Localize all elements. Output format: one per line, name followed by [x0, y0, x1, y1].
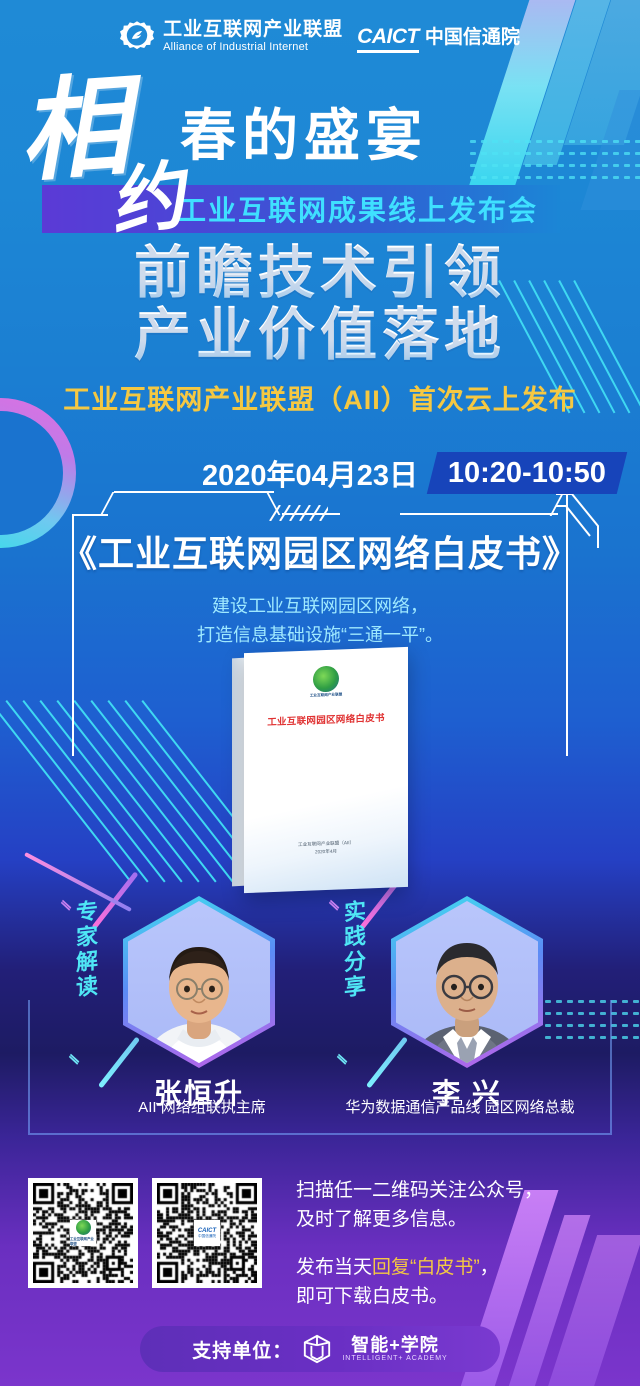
- qr-instructions: 扫描任一二维码关注公众号， 及时了解更多信息。 发布当天回复“白皮书”， 即可下…: [296, 1176, 626, 1312]
- qr-code-caict[interactable]: CAICT 中国信通院: [152, 1178, 262, 1288]
- speaker-1-tag: 专家解读: [74, 899, 96, 1001]
- book-logo-icon: [313, 666, 339, 693]
- event-banner-text: 工业互联网成果线上发布会: [178, 189, 538, 229]
- footer-support-label: 支持单位：: [192, 1336, 292, 1363]
- schedule-time-badge: 10:20-10:50: [427, 452, 627, 494]
- whitepaper-desc: 建设工业互联网园区网络， 打造信息基础设施“三通一平”。: [0, 592, 640, 650]
- qr-download-block: 发布当天回复“白皮书”， 即可下载白皮书。: [296, 1253, 626, 1312]
- academy-name-cn: 智能+学院: [351, 1336, 439, 1356]
- aii-logo-text: 工业互联网产业联盟 Alliance of Industrial Interne…: [163, 20, 343, 54]
- academy-logo: 智能+学院 INTELLIGENT+ ACADEMY: [342, 1336, 447, 1363]
- qr-line-3: 发布当天回复“白皮书”，: [296, 1253, 626, 1282]
- cube-logo-icon: [302, 1334, 332, 1364]
- main-title-line2: 产业价值落地: [0, 305, 640, 367]
- gear-logo-icon: [120, 20, 154, 54]
- speaker-2-tag: 实践分享: [342, 899, 364, 1001]
- main-title: 前瞻技术引领 产业价值落地: [0, 243, 640, 366]
- book-logo-cn: 工业互联网产业联盟: [310, 692, 342, 698]
- speaker-2-avatar: [391, 896, 543, 1068]
- caict-logo: CAICT 中国信通院: [357, 22, 520, 53]
- header-logos: 工业互联网产业联盟 Alliance of Industrial Interne…: [0, 20, 640, 54]
- schedule-date: 2020年04月23日: [202, 452, 432, 494]
- qr-line-3-c: ，: [480, 1257, 499, 1278]
- book-cover-title: 工业互联网园区网络白皮书: [267, 710, 385, 729]
- speaker-card-2: 李 兴: [382, 896, 552, 1112]
- main-title-line1: 前瞻技术引领: [0, 243, 640, 305]
- book-cover-logo: 工业互联网产业联盟: [306, 665, 346, 701]
- subtitle-gold: 工业互联网产业联盟（AII）首次云上发布: [0, 378, 640, 417]
- qr-aii-center-logo: 工业互联网产业联盟: [70, 1220, 96, 1246]
- decor-frame-hatch: [268, 505, 328, 521]
- qr-codes: 工业互联网产业联盟 CAICT 中国信通院: [28, 1178, 262, 1288]
- qr-caict-center-logo: CAICT 中国信通院: [194, 1220, 220, 1246]
- schedule-row: 2020年04月23日 10:20-10:50: [202, 452, 622, 494]
- qr-aii-logo-text: 工业互联网产业联盟: [70, 1236, 96, 1246]
- book-cover: 工业互联网产业联盟 工业互联网园区网络白皮书 工业互联网产业联盟（AII） 20…: [244, 647, 408, 893]
- whitepaper-title: 《工业互联网园区网络白皮书》: [0, 525, 640, 577]
- qr-line-3-highlight: 回复“白皮书”: [372, 1257, 480, 1278]
- caict-cn: 中国信通院: [425, 22, 520, 49]
- aii-logo-cn: 工业互联网产业联盟: [163, 20, 343, 41]
- qr-line-1: 扫描任一二维码关注公众号，: [296, 1176, 626, 1205]
- qr-aii-logo-icon: [76, 1220, 91, 1235]
- whitepaper-desc-line2: 打造信息基础设施“三通一平”。: [0, 621, 640, 650]
- whitepaper-desc-line1: 建设工业互联网园区网络，: [0, 592, 640, 621]
- schedule-time: 10:20-10:50: [448, 457, 606, 490]
- caict-abbr: CAICT: [357, 25, 419, 53]
- qr-code-aii[interactable]: 工业互联网产业联盟: [28, 1178, 138, 1288]
- book-cover-footer: 工业互联网产业联盟（AII） 2020年4月: [244, 837, 408, 859]
- qr-caict-cn: 中国信通院: [198, 1234, 216, 1239]
- footer-support-bar: 支持单位： 智能+学院 INTELLIGENT+ ACADEMY: [140, 1326, 500, 1372]
- brush-char-yue: 约: [105, 158, 189, 242]
- qr-line-3-a: 发布当天: [296, 1257, 372, 1278]
- qr-line-2: 及时了解更多信息。: [296, 1205, 626, 1234]
- academy-name-en: INTELLIGENT+ ACADEMY: [342, 1355, 447, 1362]
- speaker-1-avatar: [123, 896, 275, 1068]
- aii-logo-en: Alliance of Industrial Internet: [163, 41, 343, 54]
- whitepaper-book-mockup: 工业互联网产业联盟 工业互联网园区网络白皮书 工业互联网产业联盟（AII） 20…: [232, 650, 408, 890]
- speaker-2-role: 华为数据通信产品线 园区网络总裁: [300, 1096, 620, 1117]
- poster-root: 工业互联网产业联盟 Alliance of Industrial Interne…: [0, 0, 640, 1386]
- aii-logo: 工业互联网产业联盟 Alliance of Industrial Interne…: [120, 20, 343, 54]
- qr-line-4: 即可下载白皮书。: [296, 1282, 626, 1311]
- speaker-card-1: 张恒升: [114, 896, 284, 1112]
- spring-feast-text: 春的盛宴: [180, 108, 428, 164]
